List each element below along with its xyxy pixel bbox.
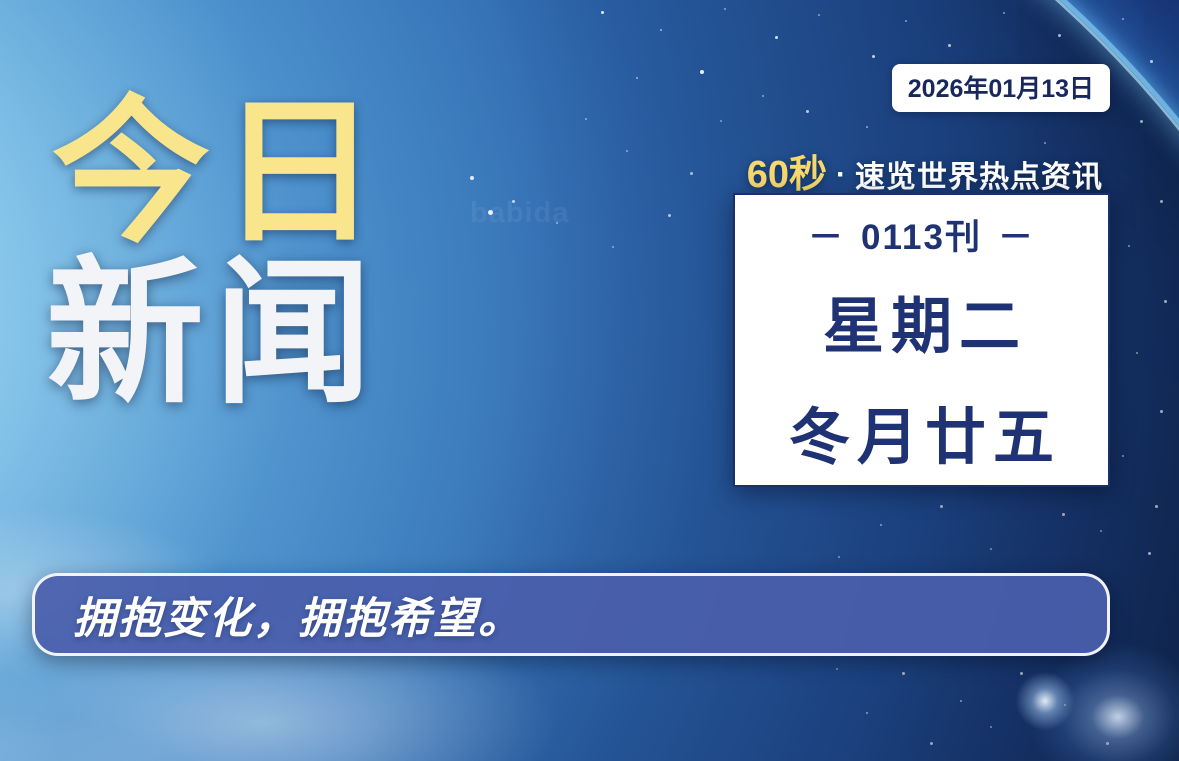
issue-line: － 0113刊 －: [808, 209, 1035, 260]
tagline: 60秒 · 速览世界热点资讯: [747, 143, 1103, 198]
issue-dash-left: －: [808, 209, 845, 260]
issue-number: 0113刊: [861, 209, 982, 260]
page-title: 今日 新闻: [52, 96, 388, 412]
quote-text: 拥抱变化，拥抱希望。: [73, 584, 523, 646]
quote-bar: 拥抱变化，拥抱希望。: [32, 573, 1110, 656]
page-title-line-2: 新闻: [46, 257, 388, 412]
watermark-text: babida: [470, 197, 569, 230]
weekday-label: 星期二: [816, 276, 1027, 365]
poster-canvas: babida 今日 新闻 2026年01月13日 60秒 · 速览世界热点资讯 …: [0, 0, 1179, 761]
issue-dash-right: －: [998, 209, 1035, 260]
tagline-highlight: 60秒: [747, 143, 827, 198]
date-badge: 2026年01月13日: [892, 64, 1110, 112]
lunar-date-label: 冬月廿五: [782, 387, 1061, 476]
tagline-text: 速览世界热点资讯: [855, 152, 1103, 196]
page-title-line-1: 今日: [52, 96, 388, 251]
info-card: － 0113刊 － 星期二 冬月廿五: [733, 193, 1110, 487]
tagline-separator-dot: ·: [827, 158, 855, 192]
